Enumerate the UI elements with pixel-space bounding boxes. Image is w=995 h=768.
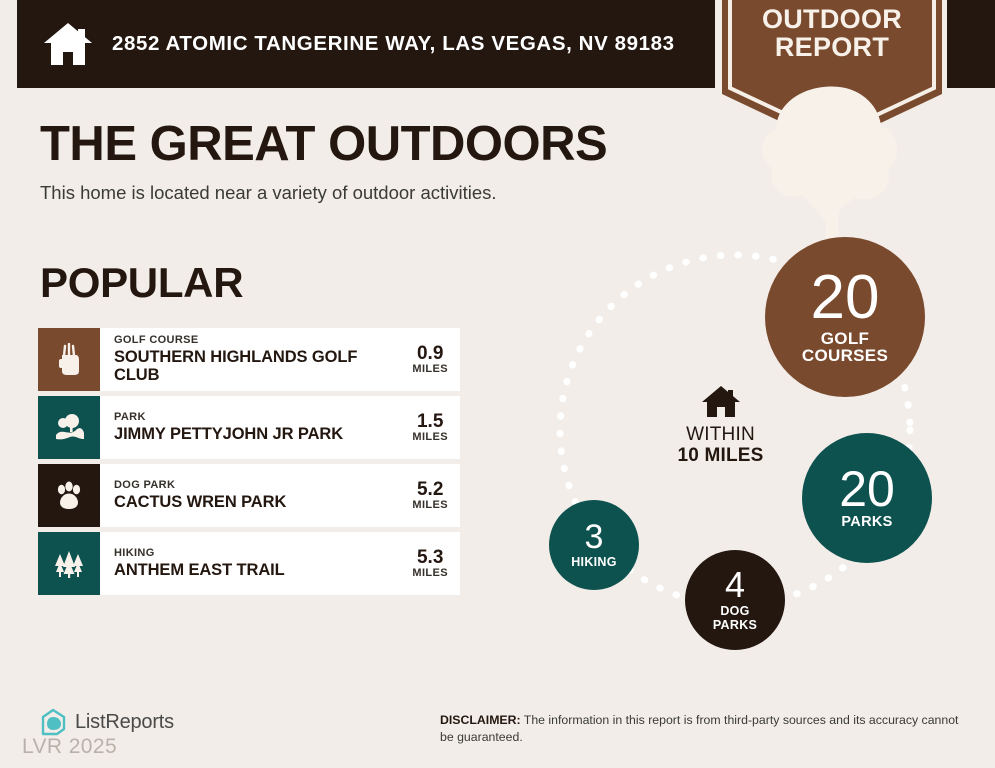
header-bar-right-fill [947, 0, 995, 88]
outdoor-report-page: 2852 ATOMIC TANGERINE WAY, LAS VEGAS, NV… [0, 0, 995, 768]
distance-unit: MILES [412, 499, 448, 511]
distance-unit: MILES [412, 363, 448, 375]
list-item-text: HIKING ANTHEM EAST TRAIL [114, 547, 285, 579]
golf-bag-icon [38, 328, 100, 391]
list-item-body: GOLF COURSE SOUTHERN HIGHLANDS GOLF CLUB… [100, 328, 460, 391]
bubble-label-line2: COURSES [802, 347, 888, 365]
watermark: LVR 2025 [22, 735, 117, 759]
listreports-logo-text: ListReports [75, 711, 174, 734]
park-icon [38, 396, 100, 459]
distance-unit: MILES [412, 567, 448, 579]
list-item-name: SOUTHERN HIGHLANDS GOLF CLUB [114, 348, 404, 385]
list-item-text: DOG PARK CACTUS WREN PARK [114, 479, 286, 511]
distance-value: 0.9 [412, 344, 448, 364]
bubble-hiking: 3 HIKING [549, 500, 639, 590]
pine-trees-icon [38, 532, 100, 595]
outdoor-report-badge: OUTDOOR REPORT [718, 0, 946, 150]
list-item[interactable]: GOLF COURSE SOUTHERN HIGHLANDS GOLF CLUB… [38, 328, 460, 391]
list-item-body: HIKING ANTHEM EAST TRAIL 5.3 MILES [100, 532, 460, 595]
popular-list: GOLF COURSE SOUTHERN HIGHLANDS GOLF CLUB… [38, 328, 460, 600]
list-item-category: PARK [114, 411, 343, 425]
bubble-label-line1: DOG [720, 605, 749, 618]
list-item-body: DOG PARK CACTUS WREN PARK 5.2 MILES [100, 464, 460, 527]
within-radius-block: WITHIN 10 MILES [653, 385, 788, 467]
bubble-label-line1: PARKS [841, 515, 892, 530]
bubble-golf-courses: 20 GOLF COURSES [765, 237, 925, 397]
popular-section-heading: POPULAR [40, 262, 243, 304]
home-icon [701, 385, 741, 419]
bubble-parks: 20 PARKS [802, 433, 932, 563]
within-label: WITHIN [653, 424, 788, 445]
list-item-name: ANTHEM EAST TRAIL [114, 561, 285, 579]
tree-icon [718, 80, 946, 244]
list-item-text: PARK JIMMY PETTYJOHN JR PARK [114, 411, 343, 443]
list-item-text: GOLF COURSE SOUTHERN HIGHLANDS GOLF CLUB [114, 334, 404, 385]
bubble-dog-parks: 4 DOG PARKS [685, 550, 785, 650]
bubble-label-line1: GOLF [821, 330, 869, 348]
bubble-label-line2: PARKS [713, 619, 757, 632]
radius-label: 10 MILES [653, 445, 788, 466]
bubble-value: 4 [725, 568, 745, 602]
home-icon [42, 21, 94, 67]
list-item[interactable]: PARK JIMMY PETTYJOHN JR PARK 1.5 MILES [38, 396, 460, 459]
list-item-category: GOLF COURSE [114, 334, 404, 348]
page-subtitle: This home is located near a variety of o… [40, 182, 497, 204]
list-item-distance: 1.5 MILES [404, 412, 448, 444]
list-item-body: PARK JIMMY PETTYJOHN JR PARK 1.5 MILES [100, 396, 460, 459]
paw-icon [38, 464, 100, 527]
distance-value: 5.2 [412, 480, 448, 500]
listreports-logo-icon [38, 707, 68, 737]
property-address: 2852 ATOMIC TANGERINE WAY, LAS VEGAS, NV… [112, 32, 675, 56]
list-item-category: DOG PARK [114, 479, 286, 493]
bubble-value: 20 [811, 269, 880, 328]
amenities-bubble-chart: 20 GOLF COURSES 20 PARKS 4 DOG PARKS 3 H… [520, 225, 990, 665]
list-item-name: CACTUS WREN PARK [114, 493, 286, 511]
distance-value: 1.5 [412, 412, 448, 432]
list-item-distance: 0.9 MILES [404, 344, 448, 376]
distance-unit: MILES [412, 431, 448, 443]
disclaimer-label: DISCLAIMER: [440, 713, 521, 727]
header-bar: 2852 ATOMIC TANGERINE WAY, LAS VEGAS, NV… [17, 0, 715, 88]
bubble-value: 3 [585, 521, 604, 553]
badge-tree-icon-wrap [718, 80, 946, 244]
list-item[interactable]: HIKING ANTHEM EAST TRAIL 5.3 MILES [38, 532, 460, 595]
list-item-category: HIKING [114, 547, 285, 561]
list-item-distance: 5.2 MILES [404, 480, 448, 512]
bubble-value: 20 [839, 466, 895, 514]
list-item[interactable]: DOG PARK CACTUS WREN PARK 5.2 MILES [38, 464, 460, 527]
list-item-name: JIMMY PETTYJOHN JR PARK [114, 425, 343, 443]
distance-value: 5.3 [412, 548, 448, 568]
disclaimer: DISCLAIMER: The information in this repo… [440, 712, 970, 747]
list-item-distance: 5.3 MILES [404, 548, 448, 580]
listreports-logo[interactable]: ListReports [38, 707, 174, 737]
page-title: THE GREAT OUTDOORS [40, 120, 607, 169]
bubble-label-line1: HIKING [571, 556, 617, 569]
